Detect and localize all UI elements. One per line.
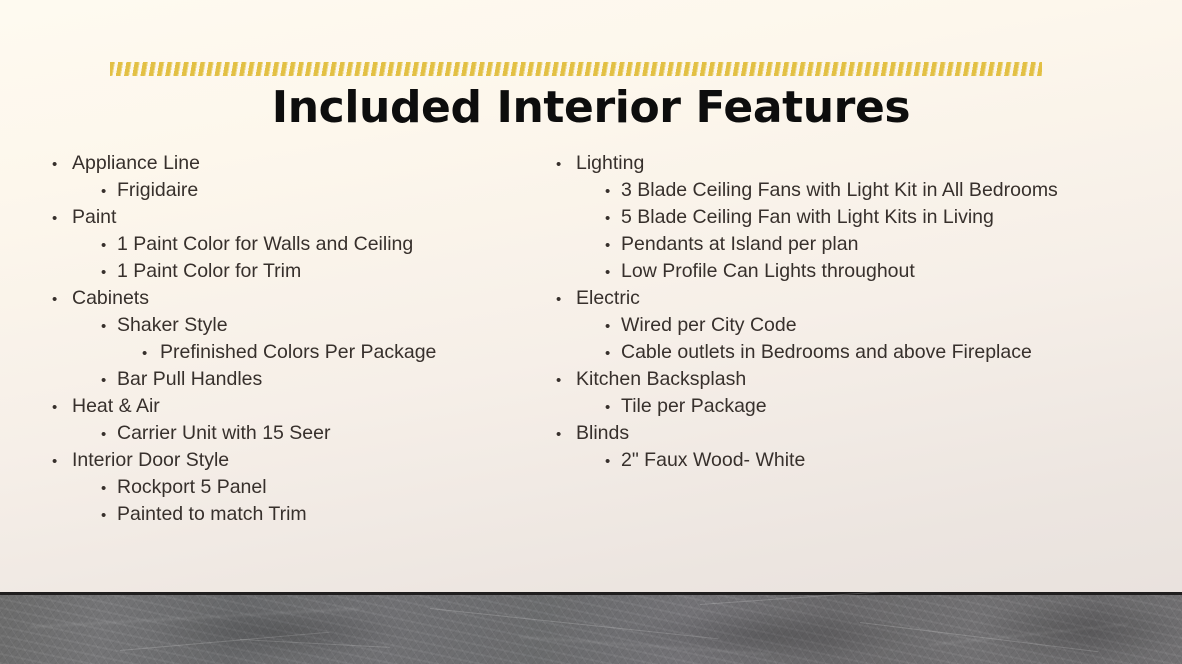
feature-right-item: •Electric (548, 287, 1068, 314)
feature-left-item: •Heat & Air (44, 395, 514, 422)
features-column-right: •Lighting•3 Blade Ceiling Fans with Ligh… (548, 152, 1068, 476)
feature-left-item: •Painted to match Trim (44, 503, 514, 530)
feature-left-item: •Rockport 5 Panel (44, 476, 514, 503)
feature-left-item: •1 Paint Color for Trim (44, 260, 514, 287)
bullet-dot-icon: • (101, 427, 117, 442)
bullet-dot-icon: • (52, 454, 72, 469)
feature-left-item-label: Carrier Unit with 15 Seer (117, 422, 331, 445)
feature-left-item-label: Rockport 5 Panel (117, 476, 267, 499)
feature-right-item-label: Wired per City Code (621, 314, 797, 337)
feature-right-item: •Tile per Package (548, 395, 1068, 422)
bullet-dot-icon: • (605, 211, 621, 226)
feature-right-item: •Wired per City Code (548, 314, 1068, 341)
bullet-dot-icon: • (556, 373, 576, 388)
feature-left-item-label: Shaker Style (117, 314, 228, 337)
feature-right-item-label: Cable outlets in Bedrooms and above Fire… (621, 341, 1032, 364)
feature-right-item-label: 2" Faux Wood- White (621, 449, 805, 472)
bullet-dot-icon: • (605, 454, 621, 469)
feature-left-item: •1 Paint Color for Walls and Ceiling (44, 233, 514, 260)
feature-left-item-label: Cabinets (72, 287, 149, 310)
bullet-dot-icon: • (556, 292, 576, 307)
bullet-dot-icon: • (142, 346, 160, 361)
page-title: Included Interior Features (0, 82, 1182, 133)
feature-right-item-label: Electric (576, 287, 640, 310)
feature-right-item-label: Lighting (576, 152, 644, 175)
feature-right-item-label: 5 Blade Ceiling Fan with Light Kits in L… (621, 206, 994, 229)
feature-right-item-label: Tile per Package (621, 395, 767, 418)
bullet-dot-icon: • (101, 319, 117, 334)
feature-left-item-label: Painted to match Trim (117, 503, 307, 526)
feature-left-item: •Carrier Unit with 15 Seer (44, 422, 514, 449)
feature-left-item: •Shaker Style (44, 314, 514, 341)
feature-left-item-label: Frigidaire (117, 179, 198, 202)
bullet-dot-icon: • (605, 319, 621, 334)
feature-left-item-label: Interior Door Style (72, 449, 229, 472)
feature-left-item-label: Bar Pull Handles (117, 368, 262, 391)
feature-left-item: •Paint (44, 206, 514, 233)
bullet-dot-icon: • (52, 157, 72, 172)
feature-right-item: •3 Blade Ceiling Fans with Light Kit in … (548, 179, 1068, 206)
feature-left-item: •Appliance Line (44, 152, 514, 179)
bullet-dot-icon: • (101, 373, 117, 388)
bullet-dot-icon: • (101, 184, 117, 199)
feature-left-item-label: 1 Paint Color for Walls and Ceiling (117, 233, 413, 256)
feature-right-item: •Pendants at Island per plan (548, 233, 1068, 260)
bullet-dot-icon: • (52, 211, 72, 226)
bullet-dot-icon: • (101, 265, 117, 280)
bullet-dot-icon: • (605, 238, 621, 253)
feature-left-item-label: Appliance Line (72, 152, 200, 175)
bullet-dot-icon: • (605, 400, 621, 415)
feature-right-item: •2" Faux Wood- White (548, 449, 1068, 476)
feature-left-item-label: Prefinished Colors Per Package (160, 341, 436, 364)
feature-right-item: •Lighting (548, 152, 1068, 179)
bullet-dot-icon: • (52, 400, 72, 415)
bullet-dot-icon: • (605, 265, 621, 280)
feature-right-item-label: Low Profile Can Lights throughout (621, 260, 915, 283)
feature-left-item: •Interior Door Style (44, 449, 514, 476)
feature-left-item-label: Paint (72, 206, 116, 229)
features-column-left: •Appliance Line•Frigidaire•Paint•1 Paint… (44, 152, 514, 530)
bullet-dot-icon: • (101, 238, 117, 253)
stone-texture-photo-band (0, 592, 1182, 664)
feature-left-item: •Bar Pull Handles (44, 368, 514, 395)
bullet-dot-icon: • (101, 508, 117, 523)
bullet-dot-icon: • (556, 427, 576, 442)
feature-left-item: •Cabinets (44, 287, 514, 314)
bullet-dot-icon: • (605, 346, 621, 361)
feature-right-item-label: Pendants at Island per plan (621, 233, 858, 256)
slide-canvas: Included Interior Features •Appliance Li… (0, 0, 1182, 664)
feature-right-item: •5 Blade Ceiling Fan with Light Kits in … (548, 206, 1068, 233)
feature-right-item: •Kitchen Backsplash (548, 368, 1068, 395)
feature-right-item: •Blinds (548, 422, 1068, 449)
feature-left-item: •Frigidaire (44, 179, 514, 206)
feature-left-item-label: Heat & Air (72, 395, 160, 418)
feature-right-item-label: 3 Blade Ceiling Fans with Light Kit in A… (621, 179, 1058, 202)
feature-right-item: •Low Profile Can Lights throughout (548, 260, 1068, 287)
bullet-dot-icon: • (52, 292, 72, 307)
gold-dashed-accent-rule (110, 62, 1042, 76)
bullet-dot-icon: • (101, 481, 117, 496)
feature-right-item: •Cable outlets in Bedrooms and above Fir… (548, 341, 1068, 368)
feature-right-item-label: Kitchen Backsplash (576, 368, 746, 391)
feature-left-item-label: 1 Paint Color for Trim (117, 260, 301, 283)
feature-right-item-label: Blinds (576, 422, 629, 445)
bullet-dot-icon: • (556, 157, 576, 172)
feature-left-item: •Prefinished Colors Per Package (44, 341, 514, 368)
bullet-dot-icon: • (605, 184, 621, 199)
